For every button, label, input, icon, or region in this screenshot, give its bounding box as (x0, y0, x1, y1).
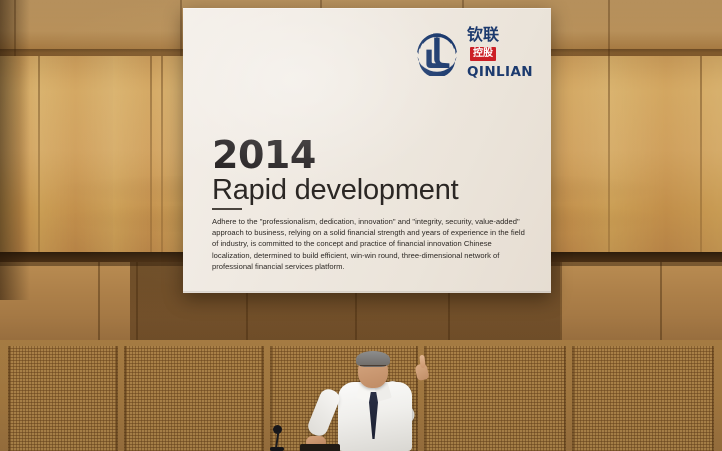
qinlian-logo: 钦联 钦 控股 QINLIAN (414, 27, 533, 79)
slide-bottom-edge (183, 291, 551, 293)
logo-chinese-badge: 控股 (470, 47, 496, 61)
qinlian-wordmark: 钦联 钦 控股 QINLIAN (467, 27, 533, 79)
slide-headline: Rapid development (212, 176, 458, 205)
presentation-photo: 钦联 钦 控股 QINLIAN 2014 Rapid development A… (0, 0, 722, 451)
logo-latin-name: QINLIAN (467, 66, 533, 80)
speaker-figure (300, 348, 465, 451)
logo-chinese-name: 钦联 (467, 27, 499, 44)
slide-divider-rule (212, 208, 242, 210)
slide-year: 2014 (212, 136, 316, 174)
slide-body-text: Adhere to the "professionalism, dedicati… (212, 216, 530, 272)
microphone-base (270, 447, 284, 451)
wall-left-shadow (0, 0, 30, 300)
projected-slide: 钦联 钦 控股 QINLIAN 2014 Rapid development A… (183, 8, 551, 293)
microphone (268, 425, 286, 451)
qinlian-circular-mark (414, 30, 460, 76)
speaker-glasses (360, 365, 386, 371)
podium-edge (300, 444, 340, 451)
speaker-pointing-finger (419, 355, 425, 368)
speaker-left-arm (305, 387, 342, 439)
